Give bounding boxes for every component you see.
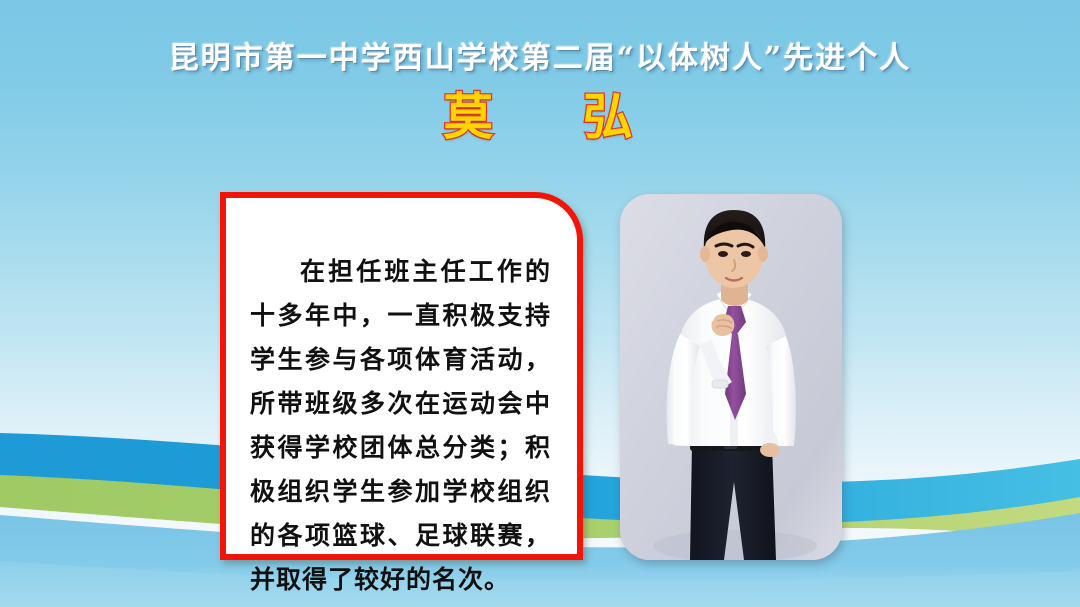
honoree-name: 莫 弘 (443, 88, 637, 146)
header-title-block: 昆明市第一中学西山学校第二届“以体树人”先进个人 (0, 40, 1080, 78)
description-card: 在担任班主任工作的十多年中，一直积极支持学生参与各项体育活动，所带班级多次在运动… (220, 192, 583, 560)
slide-canvas: 昆明市第一中学西山学校第二届“以体树人”先进个人 莫 弘 在担任班主任工作的十多… (0, 0, 1080, 607)
portrait-photo (620, 194, 842, 560)
portrait-card (620, 194, 842, 560)
honoree-name-block: 莫 弘 (0, 88, 1080, 146)
page-title: 昆明市第一中学西山学校第二届“以体树人”先进个人 (169, 40, 912, 78)
description-text: 在担任班主任工作的十多年中，一直积极支持学生参与各项体育活动，所带班级多次在运动… (226, 198, 577, 607)
